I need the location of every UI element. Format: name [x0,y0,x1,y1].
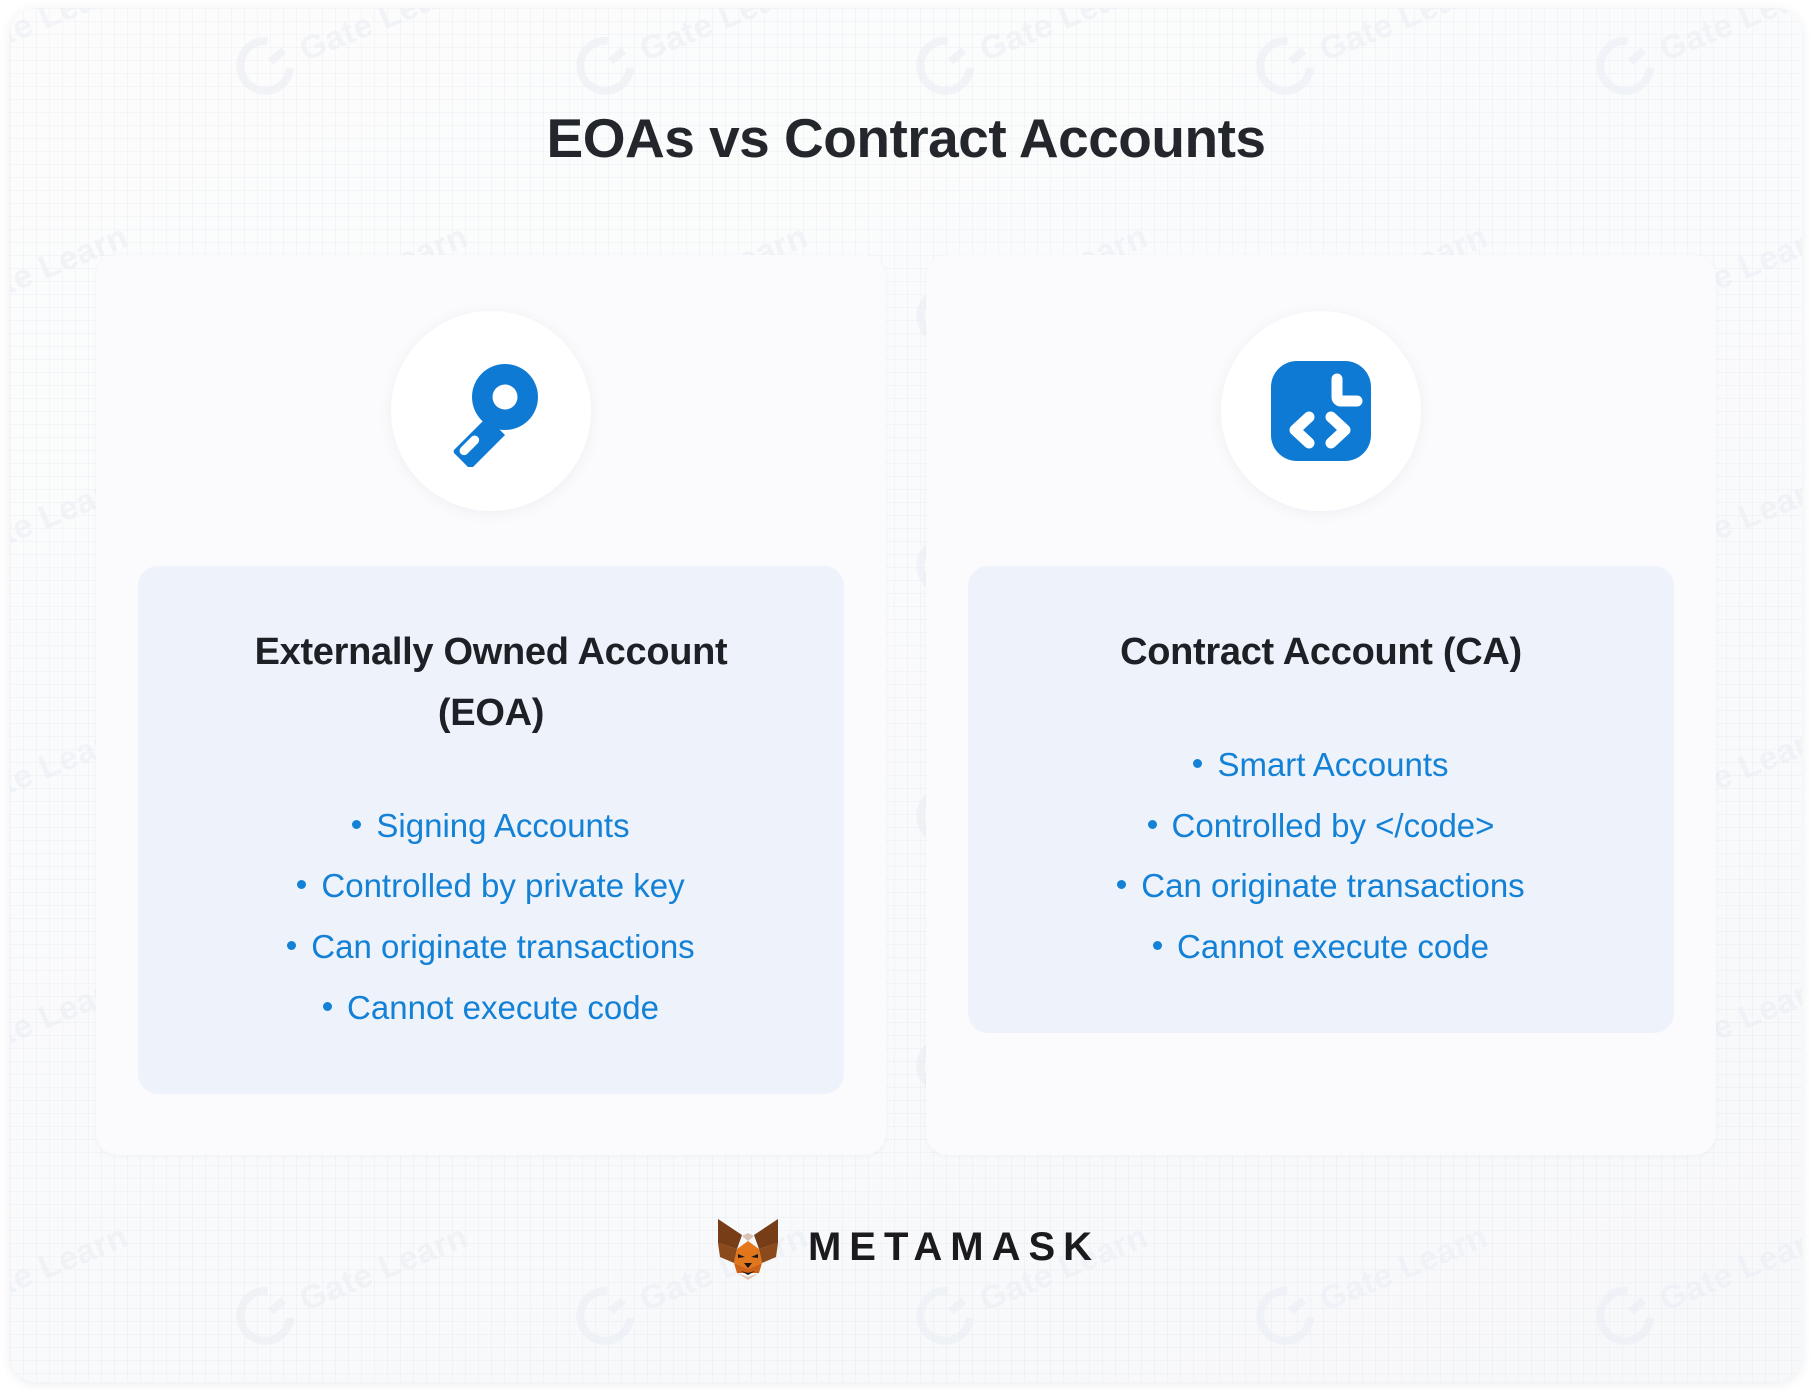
list-item: Smart Accounts [1193,741,1448,789]
bullet-text: Signing Accounts [376,802,629,850]
eoa-panel: Externally Owned Account (EOA) Signing A… [138,566,844,1094]
bullet-dot-icon [1193,759,1202,768]
bullet-text: Smart Accounts [1217,741,1448,789]
ca-panel: Contract Account (CA) Smart Accounts Con… [968,566,1674,1033]
page-title: EOAs vs Contract Accounts [547,106,1266,170]
ca-icon-badge [1221,311,1421,511]
infographic-frame: Gate LearnGate LearnGate LearnGate Learn… [10,8,1802,1382]
bullet-text: Controlled by </code> [1172,802,1495,850]
metamask-wordmark: METAMASK [808,1225,1100,1270]
card-contract-account: Contract Account (CA) Smart Accounts Con… [926,255,1716,1155]
ca-title: Contract Account (CA) [1120,622,1522,683]
metamask-brand: METAMASK [712,1213,1100,1281]
eoa-bullet-list: Signing Accounts Controlled by private k… [287,802,694,1032]
bullet-text: Cannot execute code [347,984,659,1032]
bullet-dot-icon [287,941,296,950]
metamask-fox-icon [712,1213,784,1281]
code-brackets-icon [1269,359,1373,463]
bullet-text: Cannot execute code [1177,923,1489,971]
list-item: Controlled by private key [297,862,684,910]
list-item: Can originate transactions [287,923,694,971]
list-item: Cannot execute code [323,984,659,1032]
key-icon [435,355,547,467]
bullet-dot-icon [323,1002,332,1011]
bullet-dot-icon [297,880,306,889]
list-item: Signing Accounts [352,802,629,850]
list-item: Can originate transactions [1117,862,1524,910]
list-item: Cannot execute code [1153,923,1489,971]
eoa-title: Externally Owned Account (EOA) [231,622,751,744]
list-item: Controlled by </code> [1148,802,1495,850]
bullet-dot-icon [352,820,361,829]
eoa-icon-badge [391,311,591,511]
bullet-text: Controlled by private key [321,862,684,910]
bullet-dot-icon [1148,820,1157,829]
bullet-text: Can originate transactions [311,923,694,971]
cards-container: Externally Owned Account (EOA) Signing A… [96,255,1716,1155]
bullet-text: Can originate transactions [1141,862,1524,910]
bullet-dot-icon [1117,880,1126,889]
ca-bullet-list: Smart Accounts Controlled by </code> Can… [1117,741,1524,971]
bullet-dot-icon [1153,941,1162,950]
infographic-content: EOAs vs Contract Accounts [10,8,1802,1382]
card-eoa: Externally Owned Account (EOA) Signing A… [96,255,886,1155]
infographic-canvas: Gate LearnGate LearnGate LearnGate Learn… [0,0,1812,1390]
